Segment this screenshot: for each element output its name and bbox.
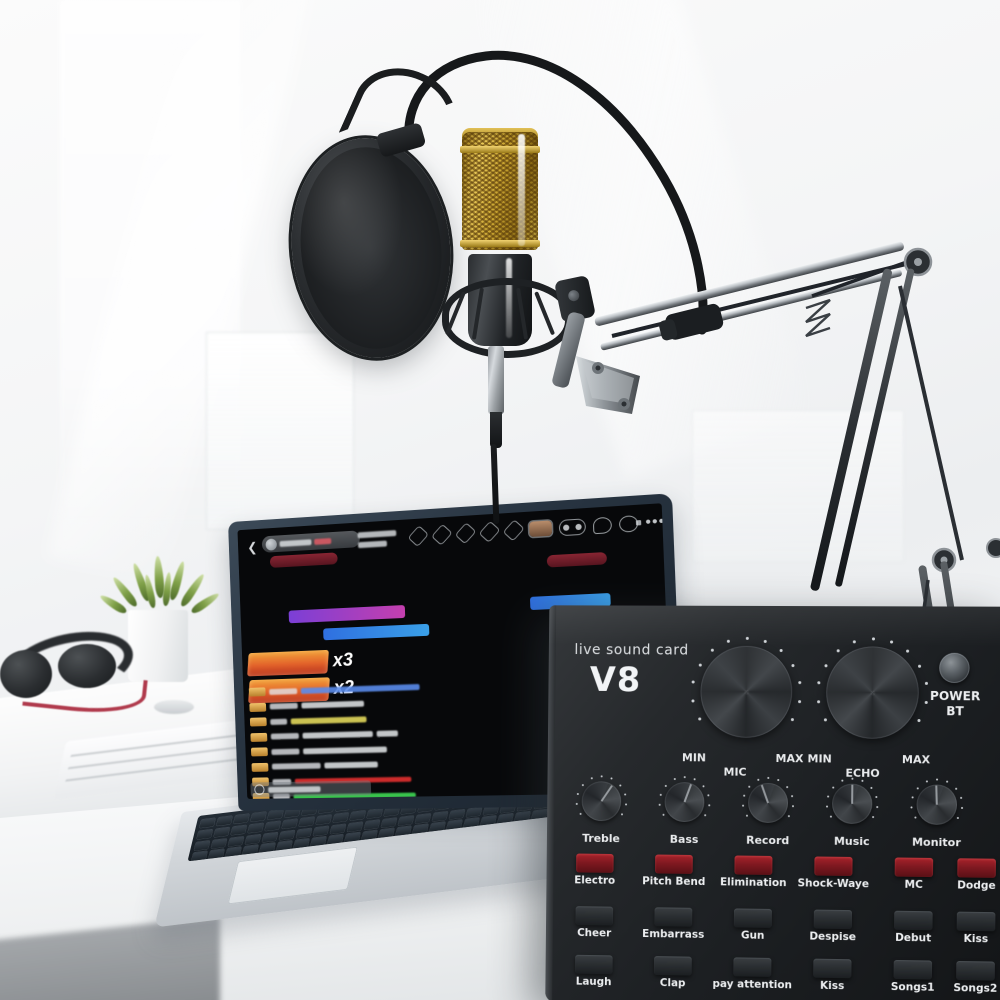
effect-button-elimination[interactable] xyxy=(734,856,772,875)
laptop-key[interactable] xyxy=(412,824,428,834)
effect-button-label: Shock-Waye xyxy=(790,877,876,890)
knob-tick-dot xyxy=(832,786,834,788)
effect-button-despise[interactable] xyxy=(814,910,852,930)
knob-dial[interactable] xyxy=(916,784,957,825)
laptop-key[interactable] xyxy=(316,815,332,825)
plant-pot xyxy=(128,610,188,682)
laptop-key[interactable] xyxy=(293,838,309,848)
knob-tick-dot xyxy=(577,793,579,795)
condenser-microphone xyxy=(440,120,620,520)
effect-button-label: Electro xyxy=(552,874,637,887)
effect-button-pitch-bend[interactable] xyxy=(655,855,693,874)
knob-echo[interactable]: MIN MAX ECHO xyxy=(814,634,932,751)
knob-tick-dot xyxy=(791,795,793,797)
knob-tick-dot xyxy=(698,717,701,720)
laptop-key[interactable] xyxy=(497,813,513,823)
laptop-key[interactable] xyxy=(245,834,261,844)
knob-tick-dot xyxy=(830,816,832,818)
shock-mount xyxy=(442,278,572,358)
knob-echo-max-label: MAX xyxy=(902,753,930,766)
knob-tick-dot xyxy=(826,806,828,808)
effect-button-mc[interactable] xyxy=(895,857,934,877)
laptop-key[interactable] xyxy=(214,827,230,837)
toggle-icon[interactable] xyxy=(559,518,586,536)
laptop-key[interactable] xyxy=(327,834,343,844)
knob-tick-dot xyxy=(611,778,613,780)
mic-stem xyxy=(488,346,504,414)
laptop-key[interactable] xyxy=(330,824,346,834)
laptop-key[interactable] xyxy=(228,836,244,846)
brand-model: V8 xyxy=(590,660,642,700)
knob-tick-dot xyxy=(961,807,963,809)
brand-name-small: live sound card xyxy=(574,642,689,658)
laptop-key[interactable] xyxy=(231,825,247,835)
knob-label: Bass xyxy=(644,832,723,846)
laptop-key[interactable] xyxy=(449,809,465,819)
effect-button-gun[interactable] xyxy=(734,908,772,928)
laptop-key[interactable] xyxy=(310,836,326,846)
knob-tick-dot xyxy=(917,787,919,789)
laptop-key[interactable] xyxy=(296,828,312,838)
knob-tick-dot xyxy=(767,777,769,779)
knob-dial[interactable] xyxy=(832,784,873,825)
knob-tick-dot xyxy=(798,700,801,703)
knob-tick-dot xyxy=(836,649,839,652)
knob-tick-dot xyxy=(699,663,702,666)
laptop-key[interactable] xyxy=(262,832,278,842)
laptop-key[interactable] xyxy=(216,816,232,826)
effect-button-label: Pitch Bend xyxy=(631,875,716,888)
effect-button-label: Songs2 xyxy=(932,982,1000,996)
knob-tick-dot xyxy=(870,786,872,788)
knob-dial[interactable] xyxy=(664,782,704,822)
laptop-key[interactable] xyxy=(333,813,349,823)
laptop-key[interactable] xyxy=(350,811,366,821)
knob-tick-dot xyxy=(780,649,783,652)
effect-button-label: Cheer xyxy=(552,927,637,940)
knob-tick-dot xyxy=(912,796,914,798)
effect-button-dodge[interactable] xyxy=(957,858,996,878)
laptop-key[interactable] xyxy=(432,811,448,821)
knob-tick-dot xyxy=(824,718,827,721)
knob-tick-dot xyxy=(704,814,706,816)
avatar xyxy=(265,538,277,550)
laptop-key[interactable] xyxy=(299,817,315,827)
knob-label: Record xyxy=(728,833,808,847)
gift-multiplier: x3 xyxy=(332,650,353,672)
laptop-key[interactable] xyxy=(242,845,258,855)
knob-tick-dot xyxy=(827,795,829,797)
diamond-icon[interactable] xyxy=(503,519,525,541)
knob-tick-dot xyxy=(872,816,874,818)
effect-button-label: Dodge xyxy=(933,879,1000,892)
effect-button-label: Laugh xyxy=(551,975,636,988)
laptop-key[interactable] xyxy=(265,821,281,831)
knob-tick-dot xyxy=(743,794,745,796)
knob-tick-dot xyxy=(660,794,662,796)
laptop-key[interactable] xyxy=(466,807,482,817)
streamer-name xyxy=(279,539,311,547)
chat-message xyxy=(250,727,470,742)
sound-card-device[interactable]: live sound card V8 MIN MAX MIC MIN MAX E… xyxy=(545,605,1000,1000)
knob-tick-dot xyxy=(711,649,714,652)
laptop-key[interactable] xyxy=(367,808,383,818)
laptop-key[interactable] xyxy=(211,839,227,849)
laptop-key[interactable] xyxy=(364,820,380,830)
effect-button-songs2[interactable] xyxy=(956,961,995,981)
effect-button-songs1[interactable] xyxy=(894,960,933,980)
effect-button-kiss[interactable] xyxy=(957,912,996,932)
knob-tick-dot xyxy=(876,806,878,808)
chat-message xyxy=(252,758,472,771)
camera-icon[interactable] xyxy=(619,515,639,533)
knob-tick-dot xyxy=(601,775,603,777)
effect-button-label: pay attention xyxy=(709,978,795,991)
knob-treble[interactable]: Treble xyxy=(575,774,629,828)
laptop-key[interactable] xyxy=(347,822,363,832)
knob-tick-dot xyxy=(890,640,893,643)
knob-tick-dot xyxy=(625,804,627,806)
knob-tick-dot xyxy=(659,804,661,806)
knob-bass[interactable]: Bass xyxy=(657,775,711,829)
background-panel xyxy=(206,332,354,530)
knob-tick-dot xyxy=(925,682,928,685)
laptop-key[interactable] xyxy=(480,815,496,825)
mic-cable xyxy=(491,444,500,524)
laptop-key[interactable] xyxy=(279,830,295,840)
laptop-key[interactable] xyxy=(197,829,213,839)
streamer-chip[interactable] xyxy=(262,530,360,553)
knob-tick-dot xyxy=(918,664,921,667)
product-image: ❮ xyxy=(0,0,1000,1000)
effect-button-embarrass[interactable] xyxy=(654,907,692,926)
knob-tick-dot xyxy=(788,815,790,817)
knob-tick-dot xyxy=(918,719,921,722)
gift-badge xyxy=(247,650,329,677)
gift-icon[interactable] xyxy=(529,520,552,537)
knob-tick-dot xyxy=(745,636,748,639)
knob-tick-dot xyxy=(579,813,581,815)
knob-pointer xyxy=(601,785,613,802)
knob-mic-min-label: MIN xyxy=(682,751,706,764)
knob-label: Music xyxy=(812,834,892,848)
laptop-key[interactable] xyxy=(429,822,445,832)
effect-button-label: Embarrass xyxy=(631,928,716,941)
knob-tick-dot xyxy=(576,803,578,805)
laptop-key[interactable] xyxy=(233,814,249,824)
laptop-key[interactable] xyxy=(361,830,377,840)
knob-tick-dot xyxy=(742,805,744,807)
laptop-key[interactable] xyxy=(276,840,292,850)
power-button-label: POWER BT xyxy=(922,689,989,720)
knob-tick-dot xyxy=(791,718,794,721)
laptop-key[interactable] xyxy=(446,820,462,830)
knob-tick-dot xyxy=(792,664,795,667)
knob-pointer xyxy=(851,785,853,804)
laptop-trackpad[interactable] xyxy=(228,846,358,904)
knob-tick-dot xyxy=(906,650,909,653)
knob-tick-dot xyxy=(684,776,686,778)
diamond-icon[interactable] xyxy=(408,525,429,547)
gift-notification: x3 xyxy=(247,649,353,676)
effect-button-label: Kiss xyxy=(932,932,1000,945)
knob-tick-dot xyxy=(818,681,821,684)
power-button-icon[interactable] xyxy=(939,653,970,683)
laptop-key[interactable] xyxy=(313,826,329,836)
stream-tag xyxy=(547,552,607,568)
chat-message xyxy=(250,711,470,726)
laptop-key[interactable] xyxy=(415,813,431,823)
knob-tick-dot xyxy=(748,785,750,787)
knob-tick-dot xyxy=(862,780,864,782)
knob-tick-dot xyxy=(817,700,820,703)
knob-tick-dot xyxy=(911,807,913,809)
laptop-key[interactable] xyxy=(208,849,224,859)
follow-badge[interactable] xyxy=(314,538,331,545)
event-banner xyxy=(323,624,429,640)
laptop-key[interactable] xyxy=(378,828,394,838)
laptop-key[interactable] xyxy=(248,823,264,833)
effect-button-label: Clap xyxy=(630,977,715,990)
effect-button-shock-waye[interactable] xyxy=(814,856,852,876)
laptop-key[interactable] xyxy=(199,818,215,828)
effect-button-laugh[interactable] xyxy=(575,955,613,974)
background-panel xyxy=(692,410,904,562)
knob-monitor[interactable]: Monitor xyxy=(909,777,964,832)
knob-record[interactable]: Record xyxy=(741,776,795,831)
knob-mic[interactable]: MIN MAX MIC xyxy=(688,634,805,751)
knob-tick-dot xyxy=(624,793,626,795)
effect-button-kiss[interactable] xyxy=(813,959,851,979)
laptop-key[interactable] xyxy=(531,809,547,819)
effect-button-cheer[interactable] xyxy=(576,906,614,925)
effect-button-electro[interactable] xyxy=(576,854,614,873)
knob-label: Monitor xyxy=(896,835,977,849)
plant-leaves xyxy=(118,556,204,618)
knob-tick-dot xyxy=(824,664,827,667)
knob-pointer xyxy=(684,784,692,802)
laptop-key[interactable] xyxy=(463,818,479,828)
more-icon[interactable]: ••• xyxy=(645,517,665,528)
laptop-key[interactable] xyxy=(381,818,397,828)
knob-tick-dot xyxy=(853,640,856,643)
knob-dial[interactable] xyxy=(582,781,622,821)
knob-tick-dot xyxy=(590,777,592,779)
headphones xyxy=(0,628,135,708)
knob-tick-dot xyxy=(692,681,695,684)
knob-tick-dot xyxy=(582,784,584,786)
knob-tick-dot xyxy=(778,779,780,781)
knob-tick-dot xyxy=(875,796,877,798)
knob-tick-dot xyxy=(851,778,853,780)
diamond-icon[interactable] xyxy=(431,524,452,546)
knob-tick-dot xyxy=(707,794,709,796)
laptop-key[interactable] xyxy=(191,851,207,861)
chat-message xyxy=(251,742,471,756)
laptop-key[interactable] xyxy=(267,810,283,820)
effect-button-debut[interactable] xyxy=(894,911,933,931)
knob-echo-min-label: MIN xyxy=(807,752,831,765)
knob-tick-dot xyxy=(746,815,748,817)
laptop-key[interactable] xyxy=(395,826,411,836)
laptop-key[interactable] xyxy=(225,847,241,857)
knob-tick-dot xyxy=(662,814,664,816)
laptop-key[interactable] xyxy=(514,811,530,821)
emoji-icon[interactable] xyxy=(254,784,265,795)
desk-object xyxy=(154,700,194,714)
knob-tick-dot xyxy=(786,786,788,788)
knob-tick-dot xyxy=(692,699,695,702)
diamond-icon[interactable] xyxy=(455,522,477,544)
knob-music[interactable]: Music xyxy=(825,776,880,831)
knob-tick-dot xyxy=(798,681,801,684)
knob-pointer xyxy=(935,786,937,805)
knob-tick-dot xyxy=(792,805,794,807)
back-chevron-icon[interactable]: ❮ xyxy=(247,541,257,554)
knob-tick-dot xyxy=(946,781,948,783)
knob-tick-dot xyxy=(764,640,767,643)
knob-tick-dot xyxy=(757,779,759,781)
knob-tick-dot xyxy=(621,814,623,816)
knob-pointer xyxy=(761,785,769,804)
knob-tick-dot xyxy=(727,640,730,643)
knob-tick-dot xyxy=(936,779,938,781)
effect-button-label: Gun xyxy=(710,929,796,942)
diamond-icon[interactable] xyxy=(479,521,501,543)
laptop-key[interactable] xyxy=(282,819,298,829)
knob-tick-dot xyxy=(926,781,928,783)
effect-button-pay-attention[interactable] xyxy=(733,957,771,977)
power-label-line2: BT xyxy=(922,704,989,720)
effect-button-label: Despise xyxy=(790,930,876,943)
chat-message xyxy=(249,696,469,712)
knob-tick-dot xyxy=(708,805,710,807)
knob-tick-dot xyxy=(619,784,621,786)
effect-button-label: Kiss xyxy=(789,979,875,993)
effect-button-label: Elimination xyxy=(710,876,796,889)
knob-tick-dot xyxy=(871,637,874,640)
knob-tick-dot xyxy=(960,797,962,799)
knob-mic-max-label: MAX xyxy=(775,752,803,765)
laptop-key[interactable] xyxy=(194,841,210,851)
stream-tag xyxy=(270,552,338,568)
viewer-count xyxy=(358,530,399,548)
effect-button-clap[interactable] xyxy=(654,956,692,976)
event-banner xyxy=(289,605,406,623)
laptop-key[interactable] xyxy=(398,816,414,826)
laptop-key[interactable] xyxy=(250,812,266,822)
knob-tick-dot xyxy=(665,784,667,786)
knob-tick-dot xyxy=(914,817,916,819)
knob-tick-dot xyxy=(673,778,675,780)
chat-input[interactable] xyxy=(250,780,371,797)
knob-label: Treble xyxy=(562,832,641,846)
laptop-key[interactable] xyxy=(344,832,360,842)
knob-tick-dot xyxy=(702,785,704,787)
laptop-key[interactable] xyxy=(259,843,275,853)
knob-tick-dot xyxy=(841,780,843,782)
knob-tick-dot xyxy=(957,817,959,819)
power-label-line1: POWER xyxy=(922,689,989,705)
knob-tick-dot xyxy=(955,787,957,789)
knob-dial[interactable] xyxy=(748,783,788,823)
knob-tick-dot xyxy=(694,778,696,780)
